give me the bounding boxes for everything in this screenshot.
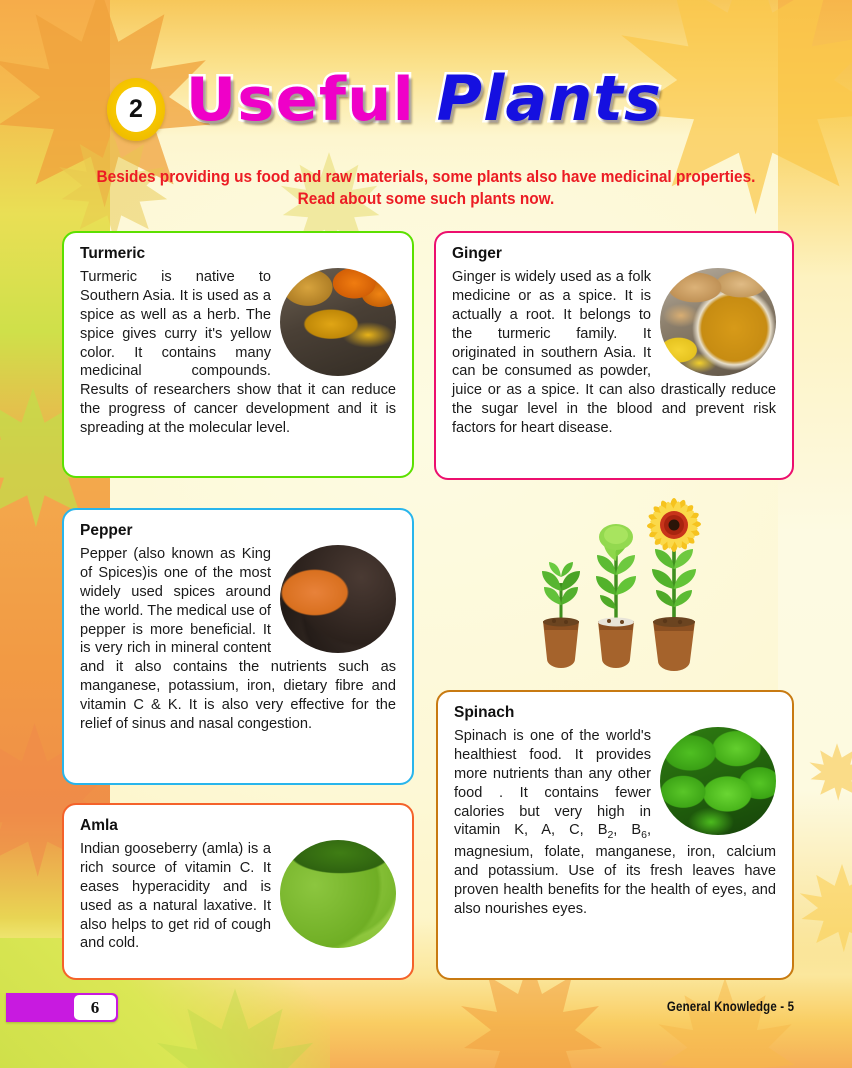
card-heading-pepper: Pepper	[80, 522, 396, 540]
content-card-pepper: Pepper Pepper (also known as King of Spi…	[62, 508, 414, 785]
page-title: UsefulPlants	[0, 62, 852, 135]
maple-leaf-icon	[120, 985, 350, 1068]
maple-leaf-icon	[794, 862, 852, 954]
maple-leaf-icon	[806, 742, 852, 802]
content-card-spinach: Spinach Spinach is one of the world's he…	[436, 690, 794, 980]
book-title-footer: General Knowledge - 5	[667, 998, 794, 1014]
plant-stage-budding	[596, 524, 636, 668]
title-word-useful: Useful	[186, 65, 415, 135]
content-card-ginger: Ginger Ginger is widely used as a folk m…	[434, 231, 794, 480]
spinach-text-2: , B	[613, 822, 641, 838]
maple-leaf-icon	[640, 975, 810, 1068]
spinach-photo	[660, 727, 776, 835]
content-card-amla: Amla Indian gooseberry (amla) is a rich …	[62, 803, 414, 980]
pepper-photo	[280, 545, 396, 653]
plant-stage-sunflower	[647, 498, 702, 671]
title-word-plants: Plants	[437, 62, 662, 135]
plant-growth-illustration	[498, 495, 734, 685]
card-heading-ginger: Ginger	[452, 245, 776, 263]
intro-paragraph: Besides providing us food and raw materi…	[88, 166, 764, 211]
card-heading-turmeric: Turmeric	[80, 245, 396, 263]
turmeric-photo	[280, 268, 396, 376]
ginger-photo	[660, 268, 776, 376]
textbook-page: 2 UsefulPlants Besides providing us food…	[0, 0, 852, 1068]
plant-stage-seedling	[542, 562, 580, 668]
page-number: 6	[74, 995, 116, 1020]
card-heading-amla: Amla	[80, 817, 396, 835]
card-heading-spinach: Spinach	[454, 704, 776, 722]
amla-photo	[280, 840, 396, 948]
page-number-tab: 6	[6, 993, 118, 1022]
content-card-turmeric: Turmeric Turmeric is native to Southern …	[62, 231, 414, 478]
